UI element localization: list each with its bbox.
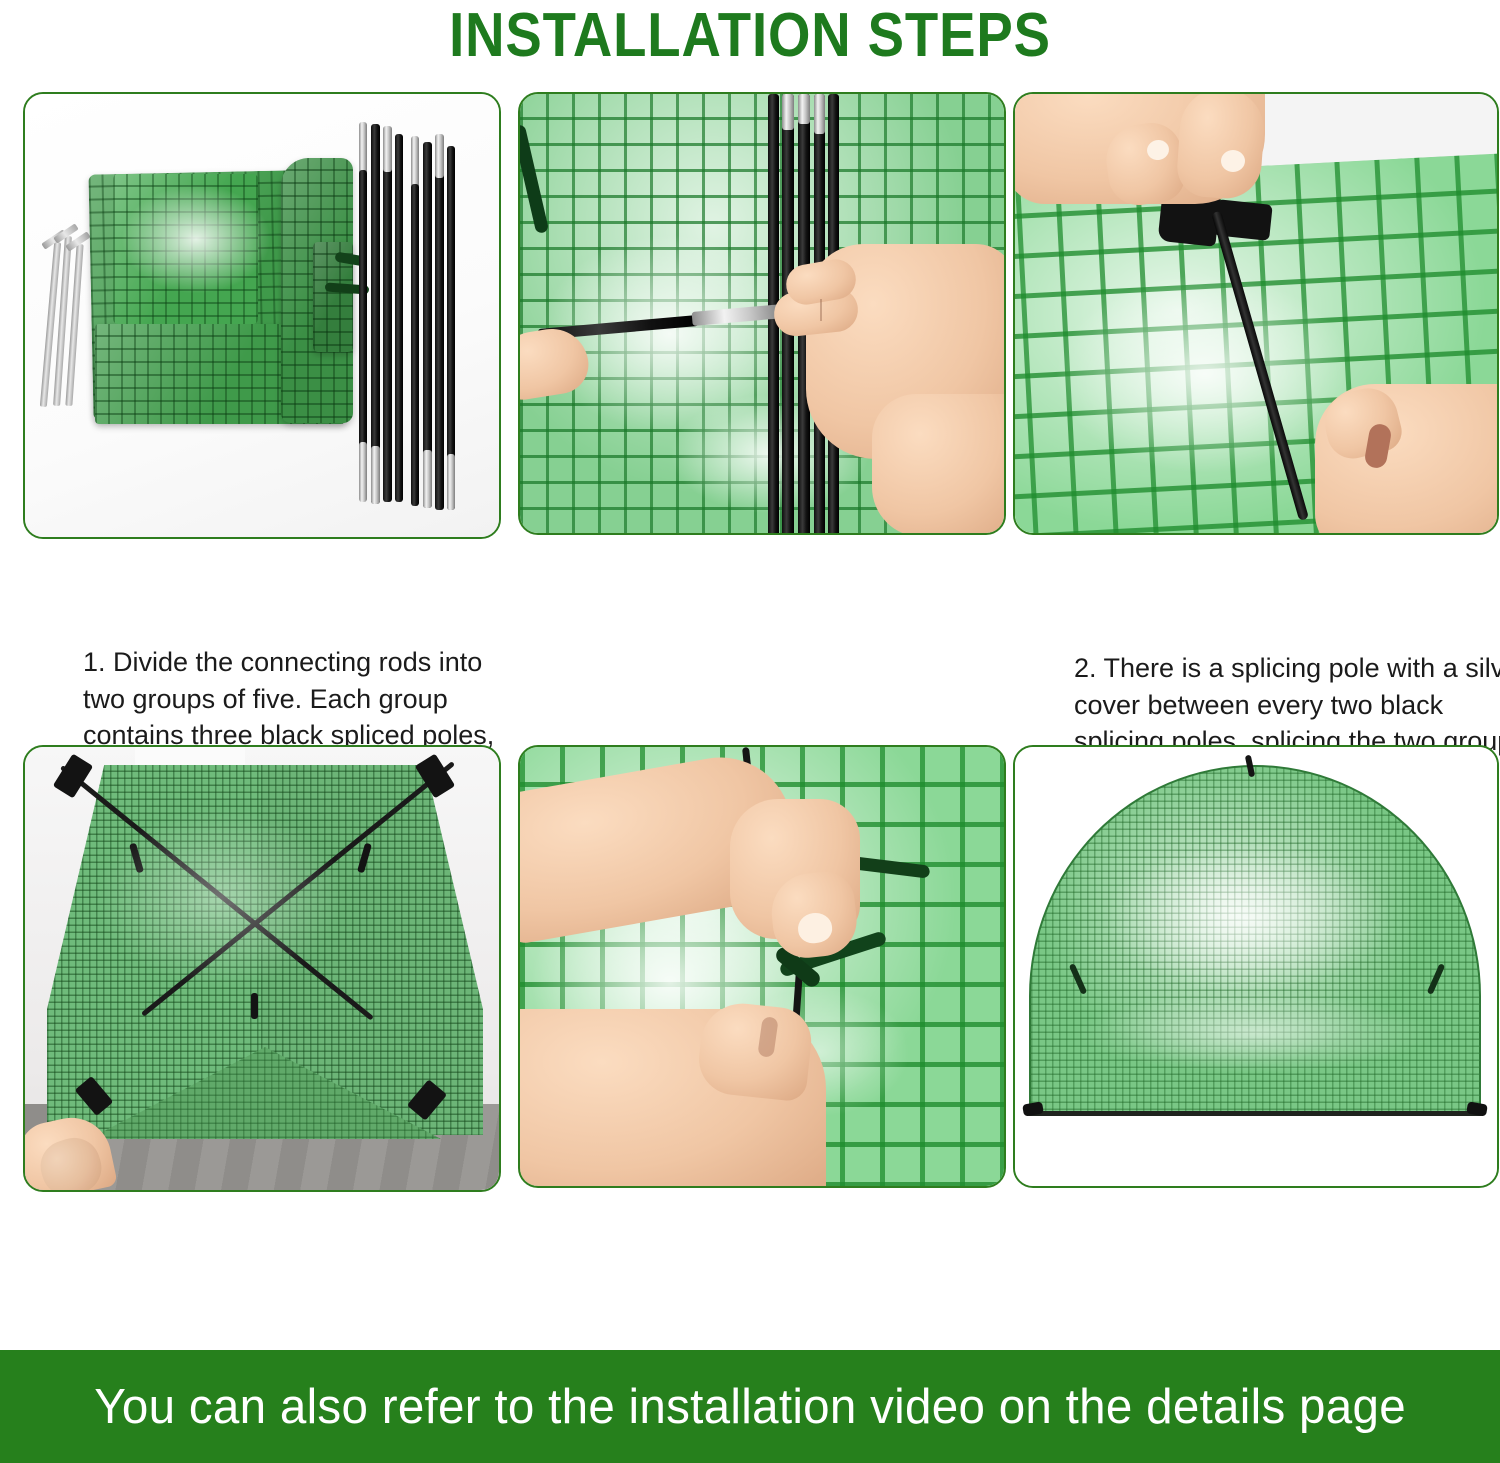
steps-grid: 1. Divide the connecting rods into two g… bbox=[0, 0, 1500, 1340]
banner-text: You can also refer to the installation v… bbox=[94, 1379, 1406, 1435]
installation-video-banner: You can also refer to the installation v… bbox=[0, 1350, 1500, 1463]
step-1-image bbox=[23, 92, 501, 539]
step-2-image bbox=[518, 92, 1006, 535]
step-5-image bbox=[518, 745, 1006, 1188]
step-3-image bbox=[1013, 92, 1499, 535]
installation-steps-infographic: INSTALLATION STEPS bbox=[0, 0, 1500, 1463]
step-4-image bbox=[23, 745, 501, 1192]
step-6-image bbox=[1013, 745, 1499, 1188]
